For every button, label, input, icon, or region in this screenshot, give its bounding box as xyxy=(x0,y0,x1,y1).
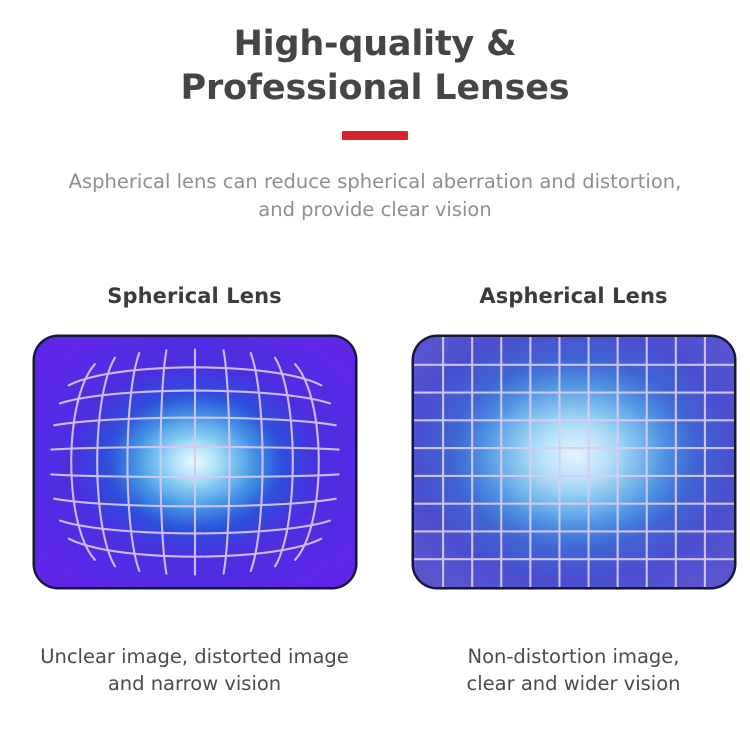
aspherical-lens-caption-line-2: clear and wider vision xyxy=(397,671,750,698)
spherical-lens-caption: Unclear image, distorted image and narro… xyxy=(0,644,375,697)
aspherical-lens-grid-svg xyxy=(414,337,734,587)
aspherical-lens-panel-holder xyxy=(375,337,750,587)
aspherical-lens-caption: Non-distortion image, clear and wider vi… xyxy=(375,644,750,697)
lens-comparison-columns: Spherical Lens xyxy=(0,286,750,717)
aspherical-lens-column: Aspherical Lens xyxy=(375,286,750,717)
page-title-line-1: High-quality & xyxy=(0,22,750,66)
spherical-lens-panel-holder xyxy=(0,337,375,587)
spherical-lens-heading: Spherical Lens xyxy=(0,286,375,307)
spherical-lens-caption-line-2: and narrow vision xyxy=(14,671,375,698)
title-divider-wrap xyxy=(0,125,750,144)
page-title-line-2: Professional Lenses xyxy=(0,66,750,110)
spherical-lens-column: Spherical Lens xyxy=(0,286,375,717)
aspherical-lens-grid-panel xyxy=(414,337,734,587)
lens-comparison-section: Spherical Lens xyxy=(0,286,750,717)
lens-comparison-page: High-quality & Professional Lenses Asphe… xyxy=(0,0,750,750)
aspherical-lens-heading: Aspherical Lens xyxy=(375,286,750,307)
page-subtitle: Aspherical lens can reduce spherical abe… xyxy=(25,168,725,223)
spherical-lens-grid-panel xyxy=(35,337,355,587)
page-subtitle-line-2: and provide clear vision xyxy=(25,196,725,224)
aspherical-lens-caption-line-1: Non-distortion image, xyxy=(397,644,750,671)
spherical-lens-caption-line-1: Unclear image, distorted image xyxy=(14,644,375,671)
title-divider xyxy=(342,131,408,140)
spherical-lens-grid-svg xyxy=(35,337,355,587)
page-subtitle-line-1: Aspherical lens can reduce spherical abe… xyxy=(25,168,725,196)
page-title: High-quality & Professional Lenses xyxy=(0,22,750,110)
page-header: High-quality & Professional Lenses Asphe… xyxy=(0,0,750,224)
